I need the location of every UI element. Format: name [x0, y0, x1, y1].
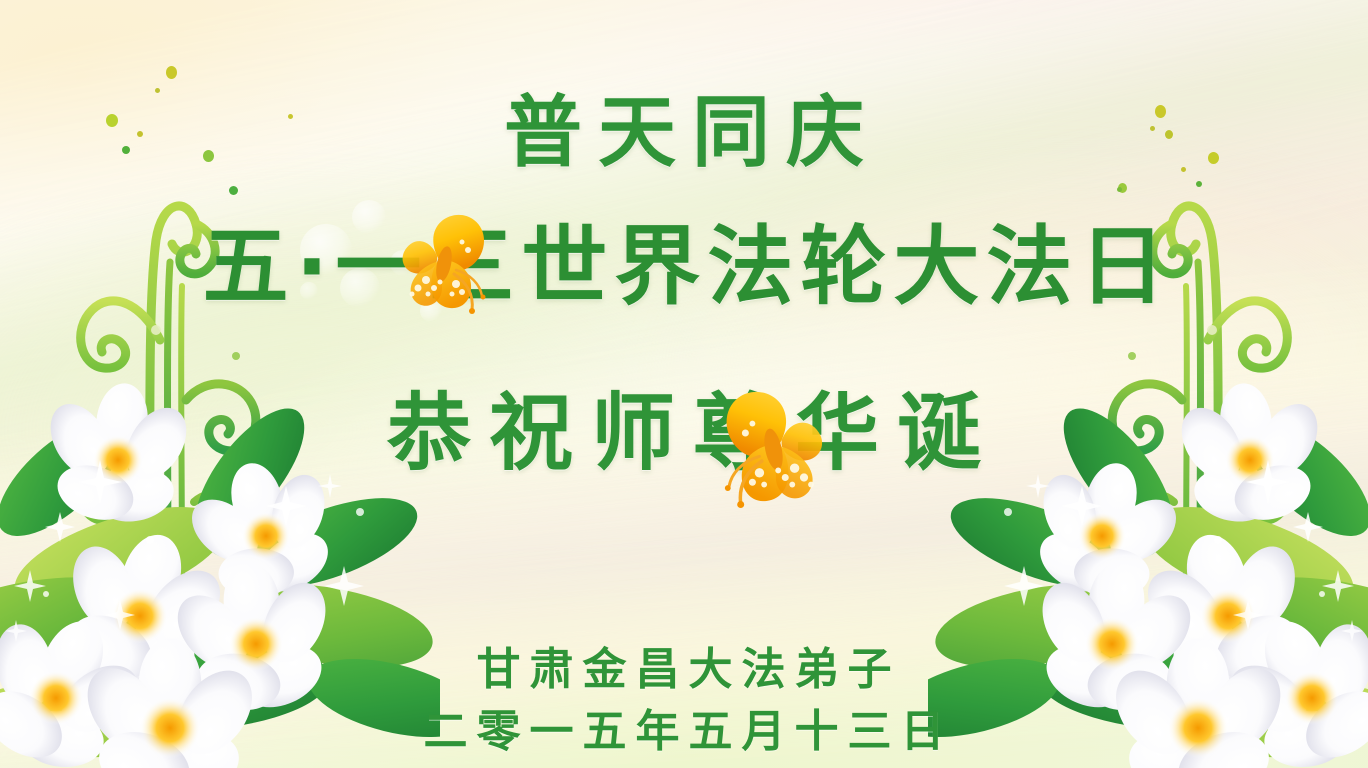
- bokeh-circle: [300, 282, 318, 300]
- plumeria-flower: [164, 560, 338, 720]
- plumeria-flower: [1030, 458, 1188, 604]
- background-swoosh-5: [0, 492, 1368, 768]
- background-glow-center: [103, 161, 1368, 669]
- bokeh-circle: [340, 268, 380, 308]
- plumeria-flower: [1101, 638, 1296, 768]
- fern-decoration-right: [1048, 0, 1368, 620]
- headline-line-2: 五·一三世界法轮大法日: [0, 196, 1368, 321]
- sparkle-cluster-right: [968, 420, 1368, 768]
- plumeria-flower: [72, 638, 267, 768]
- plumeria-flower: [180, 458, 338, 604]
- decor-dot: [122, 146, 130, 154]
- butterfly-icon-upper: [382, 198, 512, 343]
- plumeria-flower: [60, 528, 234, 692]
- plumeria-flower: [1169, 381, 1329, 529]
- background-swoosh-2: [0, 0, 1368, 570]
- decor-dot: [1117, 187, 1122, 192]
- bokeh-circle: [300, 224, 352, 276]
- decor-dot: [106, 114, 118, 127]
- signature-author: 甘肃金昌大法弟子: [0, 633, 1368, 697]
- fern-decoration-left: [0, 0, 320, 620]
- background-glow-left: [0, 150, 800, 710]
- plumeria-flower: [39, 381, 199, 529]
- decor-dot: [1155, 105, 1166, 118]
- background-swoosh-1: [0, 0, 1368, 503]
- decor-dot: [1208, 152, 1219, 164]
- plumeria-flower: [0, 612, 150, 768]
- sparkle-cluster-left: [0, 420, 400, 768]
- plumeria-flower: [1218, 612, 1368, 768]
- decor-dot: [137, 131, 143, 137]
- decor-dot: [288, 114, 293, 119]
- headline-line-1: 普天同庆: [0, 70, 1368, 182]
- background-glow-right: [618, 120, 1368, 640]
- poster-text-layer: 普天同庆 五·一三世界法轮大法日 恭祝师尊华诞 甘肃金昌大法弟子 二零一五年五月…: [0, 0, 1368, 768]
- decor-dot: [1196, 181, 1202, 187]
- bokeh-circle: [390, 250, 416, 276]
- decor-dot: [1150, 126, 1155, 131]
- greeting-poster: 普天同庆 五·一三世界法轮大法日 恭祝师尊华诞 甘肃金昌大法弟子 二零一五年五月…: [0, 0, 1368, 768]
- headline-line-3: 恭祝师尊华诞: [0, 366, 1368, 487]
- decor-dot: [1118, 183, 1127, 193]
- decor-dot: [166, 66, 177, 79]
- bokeh-circle: [352, 200, 386, 234]
- bokeh-circle: [420, 300, 442, 322]
- decor-dot: [203, 150, 214, 162]
- signature-date: 二零一五年五月十三日: [0, 695, 1368, 759]
- butterfly-icon-lower: [690, 372, 850, 542]
- decor-dot: [229, 186, 238, 195]
- plumeria-flower: [1030, 560, 1204, 720]
- background-swoosh-3: [0, 209, 1368, 768]
- decor-dot: [1181, 167, 1186, 172]
- background-swoosh-4: [0, 347, 1368, 764]
- decor-dot: [1165, 130, 1173, 139]
- plumeria-flower: [1134, 528, 1308, 692]
- decor-dot: [155, 88, 160, 93]
- flower-bouquet-right: [928, 368, 1368, 768]
- flower-bouquet-left: [0, 368, 440, 768]
